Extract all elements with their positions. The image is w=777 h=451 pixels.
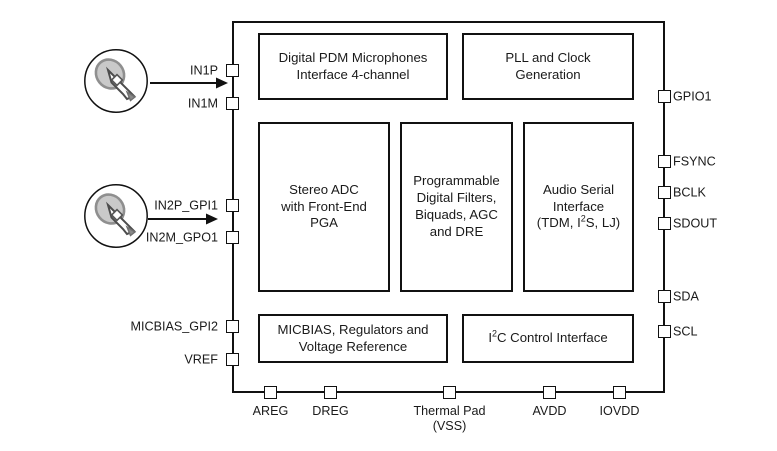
pin-sdout[interactable]: [658, 217, 671, 230]
pin-bclk[interactable]: [658, 186, 671, 199]
block-label: MICBIAS, Regulators and Voltage Referenc…: [278, 322, 429, 356]
pin-gpio1[interactable]: [658, 90, 671, 103]
block-i2c-control: I2C Control Interface: [462, 314, 634, 363]
microphone-1-icon: [83, 48, 149, 114]
block-pdm-mic-interface: Digital PDM Microphones Interface 4-chan…: [258, 33, 448, 100]
pin-in2p-gpi1[interactable]: [226, 199, 239, 212]
pin-dreg[interactable]: [324, 386, 337, 399]
pin-label-gpio1: GPIO1: [673, 90, 712, 103]
pin-label-avdd: AVDD: [532, 404, 566, 419]
pin-label-micbias-gpi2: MICBIAS_GPI2: [131, 320, 219, 333]
pin-label-areg: AREG: [253, 404, 289, 419]
block-label: Digital PDM Microphones Interface 4-chan…: [279, 50, 428, 84]
block-stereo-adc: Stereo ADC with Front-End PGA: [258, 122, 390, 292]
block-digital-filters: Programmable Digital Filters, Biquads, A…: [400, 122, 513, 292]
pin-fsync[interactable]: [658, 155, 671, 168]
block-pll-clock: PLL and Clock Generation: [462, 33, 634, 100]
block-label: Programmable Digital Filters, Biquads, A…: [413, 173, 500, 241]
pin-label-sda: SDA: [673, 290, 699, 303]
pin-label-in2p-gpi1: IN2P_GPI1: [154, 199, 218, 212]
pin-micbias-gpi2[interactable]: [226, 320, 239, 333]
pin-label-iovdd: IOVDD: [600, 404, 640, 419]
block-diagram-canvas: Digital PDM Microphones Interface 4-chan…: [0, 0, 777, 451]
block-audio-serial-interface: Audio SerialInterface(TDM, I2S, LJ): [523, 122, 634, 292]
block-micbias-regulators: MICBIAS, Regulators and Voltage Referenc…: [258, 314, 448, 363]
pin-vref[interactable]: [226, 353, 239, 366]
pin-iovdd[interactable]: [613, 386, 626, 399]
pin-areg[interactable]: [264, 386, 277, 399]
pin-in2m-gpo1[interactable]: [226, 231, 239, 244]
block-label: Audio SerialInterface(TDM, I2S, LJ): [537, 182, 620, 233]
pin-avdd[interactable]: [543, 386, 556, 399]
pin-scl[interactable]: [658, 325, 671, 338]
pin-in1m[interactable]: [226, 97, 239, 110]
pin-label-scl: SCL: [673, 325, 698, 338]
pin-label-sdout: SDOUT: [673, 217, 717, 230]
pin-label-in1p: IN1P: [190, 64, 218, 77]
pin-label-dreg: DREG: [312, 404, 348, 419]
block-label: PLL and Clock Generation: [505, 50, 590, 84]
pin-thermal-pad[interactable]: [443, 386, 456, 399]
pin-label-in2m-gpo1: IN2M_GPO1: [146, 231, 218, 244]
microphone-2-icon: [83, 183, 149, 249]
block-label: I2C Control Interface: [488, 330, 607, 347]
microphone-2-connection-arrow: [148, 212, 228, 226]
pin-label-vref: VREF: [184, 353, 218, 366]
pin-label-bclk: BCLK: [673, 186, 706, 199]
block-label: Stereo ADC with Front-End PGA: [281, 182, 367, 233]
pin-label-fsync: FSYNC: [673, 155, 716, 168]
pin-sda[interactable]: [658, 290, 671, 303]
pin-label-in1m: IN1M: [188, 97, 218, 110]
pin-label-thermal-pad: Thermal Pad (VSS): [413, 404, 485, 435]
microphone-1-connection-arrow: [150, 76, 230, 90]
